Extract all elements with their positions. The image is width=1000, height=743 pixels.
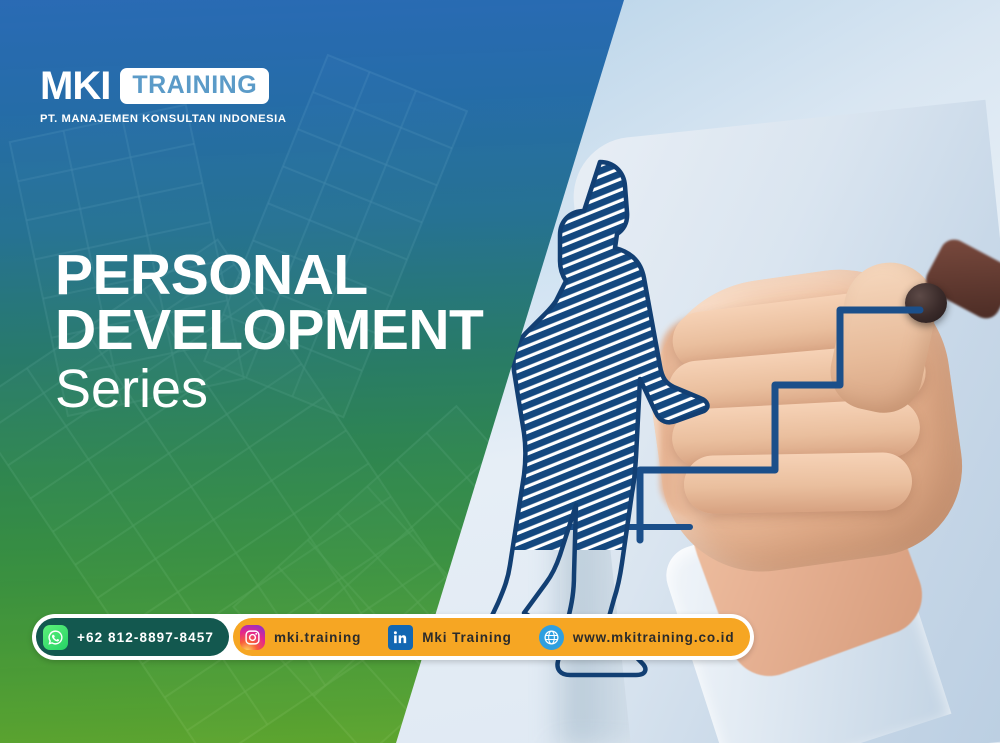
- instagram-icon[interactable]: [240, 625, 265, 650]
- social-links: mki.training Mki Training www.mkitrainin: [233, 618, 751, 656]
- logo-training-badge: TRAINING: [120, 68, 269, 104]
- headline-line-2: DEVELOPMENT: [55, 303, 483, 358]
- promo-banner: MKI TRAINING PT. MANAJEMEN KONSULTAN IND…: [0, 0, 1000, 743]
- logo-mki-text: MKI: [40, 66, 110, 106]
- instagram-handle: mki.training: [274, 630, 361, 645]
- headline-line-3: Series: [55, 359, 483, 419]
- headline-line-1: PERSONAL: [55, 248, 483, 303]
- website-url: www.mkitraining.co.id: [573, 630, 735, 645]
- whatsapp-contact[interactable]: +62 812-8897-8457: [36, 618, 229, 656]
- whatsapp-number: +62 812-8897-8457: [77, 630, 214, 645]
- headline-block: PERSONAL DEVELOPMENT Series: [55, 248, 483, 420]
- contact-bar: +62 812-8897-8457 mki.training Mki Tra: [32, 614, 754, 660]
- linkedin-name: Mki Training: [422, 630, 512, 645]
- linkedin-icon[interactable]: [388, 625, 413, 650]
- globe-icon[interactable]: [539, 625, 564, 650]
- logo-subtitle: PT. MANAJEMEN KONSULTAN INDONESIA: [40, 113, 286, 125]
- whatsapp-icon: [43, 625, 68, 650]
- brand-logo[interactable]: MKI TRAINING PT. MANAJEMEN KONSULTAN IND…: [40, 66, 286, 125]
